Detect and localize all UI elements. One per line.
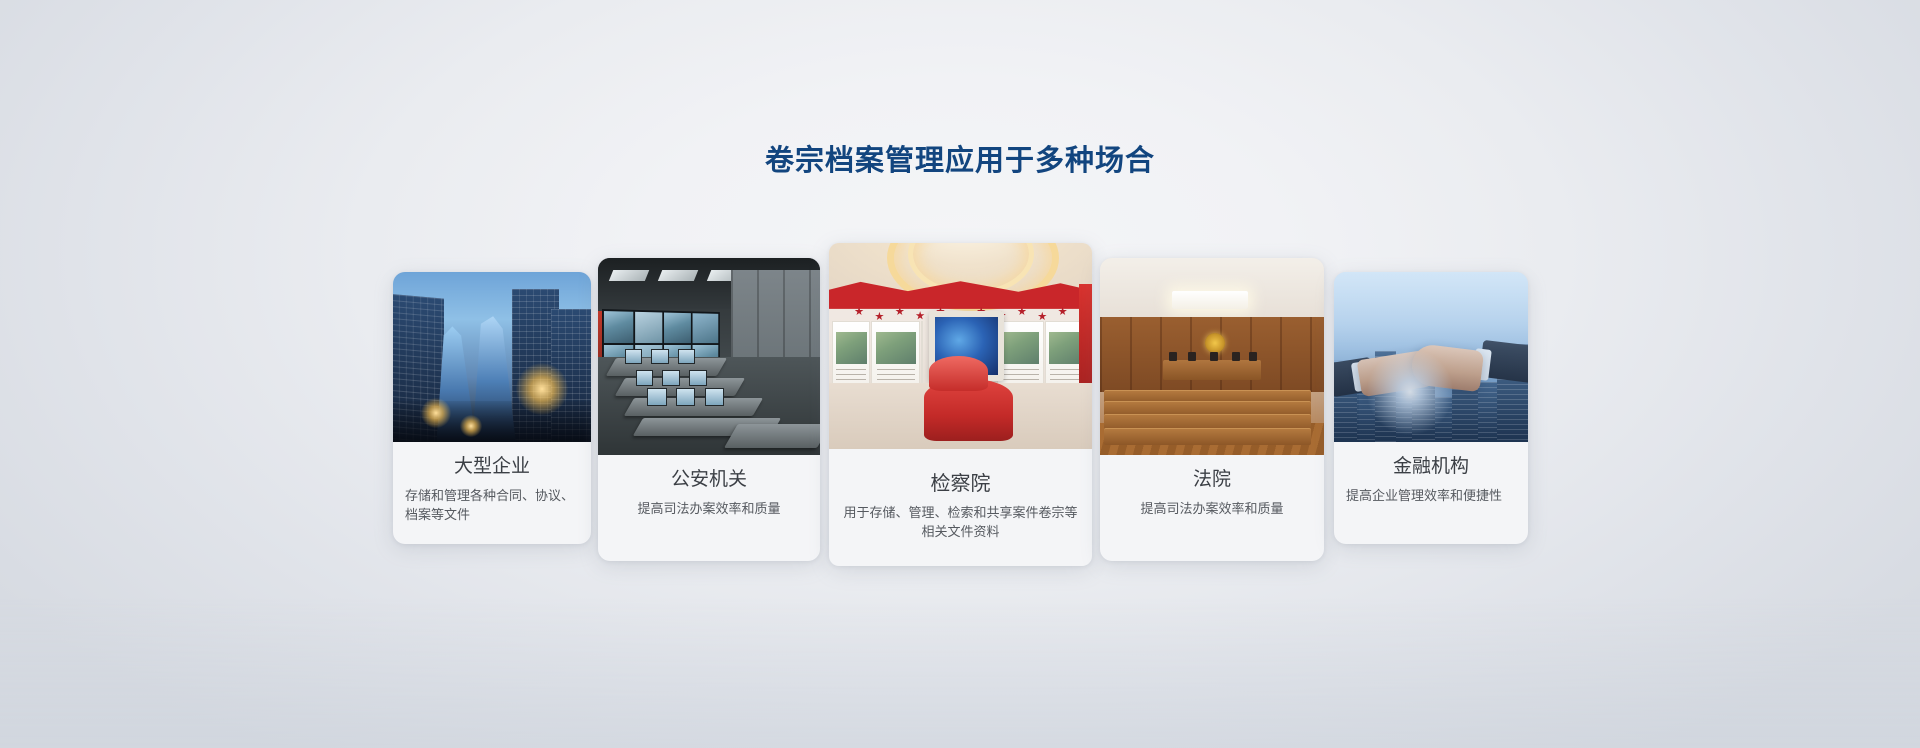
- card-title: 检察院: [931, 471, 991, 497]
- scenario-card-large-enterprise[interactable]: 大型企业 存储和管理各种合同、协议、档案等文件: [393, 272, 591, 544]
- scenario-card-public-security[interactable]: 公安机关 提高司法办案效率和质量: [598, 258, 820, 561]
- card-image-frame: [393, 272, 591, 442]
- card-image-frame: [598, 258, 820, 455]
- card-description: 提高企业管理效率和便捷性: [1346, 486, 1516, 505]
- police-command-center-photo: [598, 258, 820, 455]
- scenario-card-procuratorate[interactable]: 检察院 用于存储、管理、检索和共享案件卷宗等相关文件资料: [829, 243, 1092, 566]
- card-title: 法院: [1193, 467, 1231, 493]
- procuratorate-exhibition-hall-photo: [829, 243, 1092, 449]
- card-text-body: 法院 提高司法办案效率和质量: [1100, 455, 1324, 561]
- page-title: 卷宗档案管理应用于多种场合: [0, 144, 1920, 178]
- scenario-card-deck: 大型企业 存储和管理各种合同、协议、档案等文件: [0, 0, 1920, 748]
- card-title: 金融机构: [1346, 454, 1516, 480]
- scenario-card-court[interactable]: 法院 提高司法办案效率和质量: [1100, 258, 1324, 561]
- handshake-skyline-photo: [1334, 272, 1528, 442]
- card-text-body: 大型企业 存储和管理各种合同、协议、档案等文件: [393, 442, 591, 544]
- courtroom-photo: [1100, 258, 1324, 455]
- card-description: 存储和管理各种合同、协议、档案等文件: [405, 486, 579, 524]
- card-image-frame: [1100, 258, 1324, 455]
- card-text-body: 检察院 用于存储、管理、检索和共享案件卷宗等相关文件资料: [829, 449, 1092, 566]
- card-description: 用于存储、管理、检索和共享案件卷宗等相关文件资料: [839, 503, 1082, 541]
- card-image-frame: [829, 243, 1092, 449]
- card-title: 大型企业: [405, 454, 579, 480]
- office-towers-photo: [393, 272, 591, 442]
- card-description: 提高司法办案效率和质量: [1140, 499, 1283, 518]
- card-title: 公安机关: [671, 467, 747, 493]
- scenarios-section: 卷宗档案管理应用于多种场合 大型企业 存储和管理各种合同、协议: [0, 0, 1920, 748]
- card-text-body: 公安机关 提高司法办案效率和质量: [598, 455, 820, 561]
- scenario-card-financial-institution[interactable]: 金融机构 提高企业管理效率和便捷性: [1334, 272, 1528, 544]
- card-text-body: 金融机构 提高企业管理效率和便捷性: [1334, 442, 1528, 544]
- card-description: 提高司法办案效率和质量: [637, 499, 780, 518]
- card-image-frame: [1334, 272, 1528, 442]
